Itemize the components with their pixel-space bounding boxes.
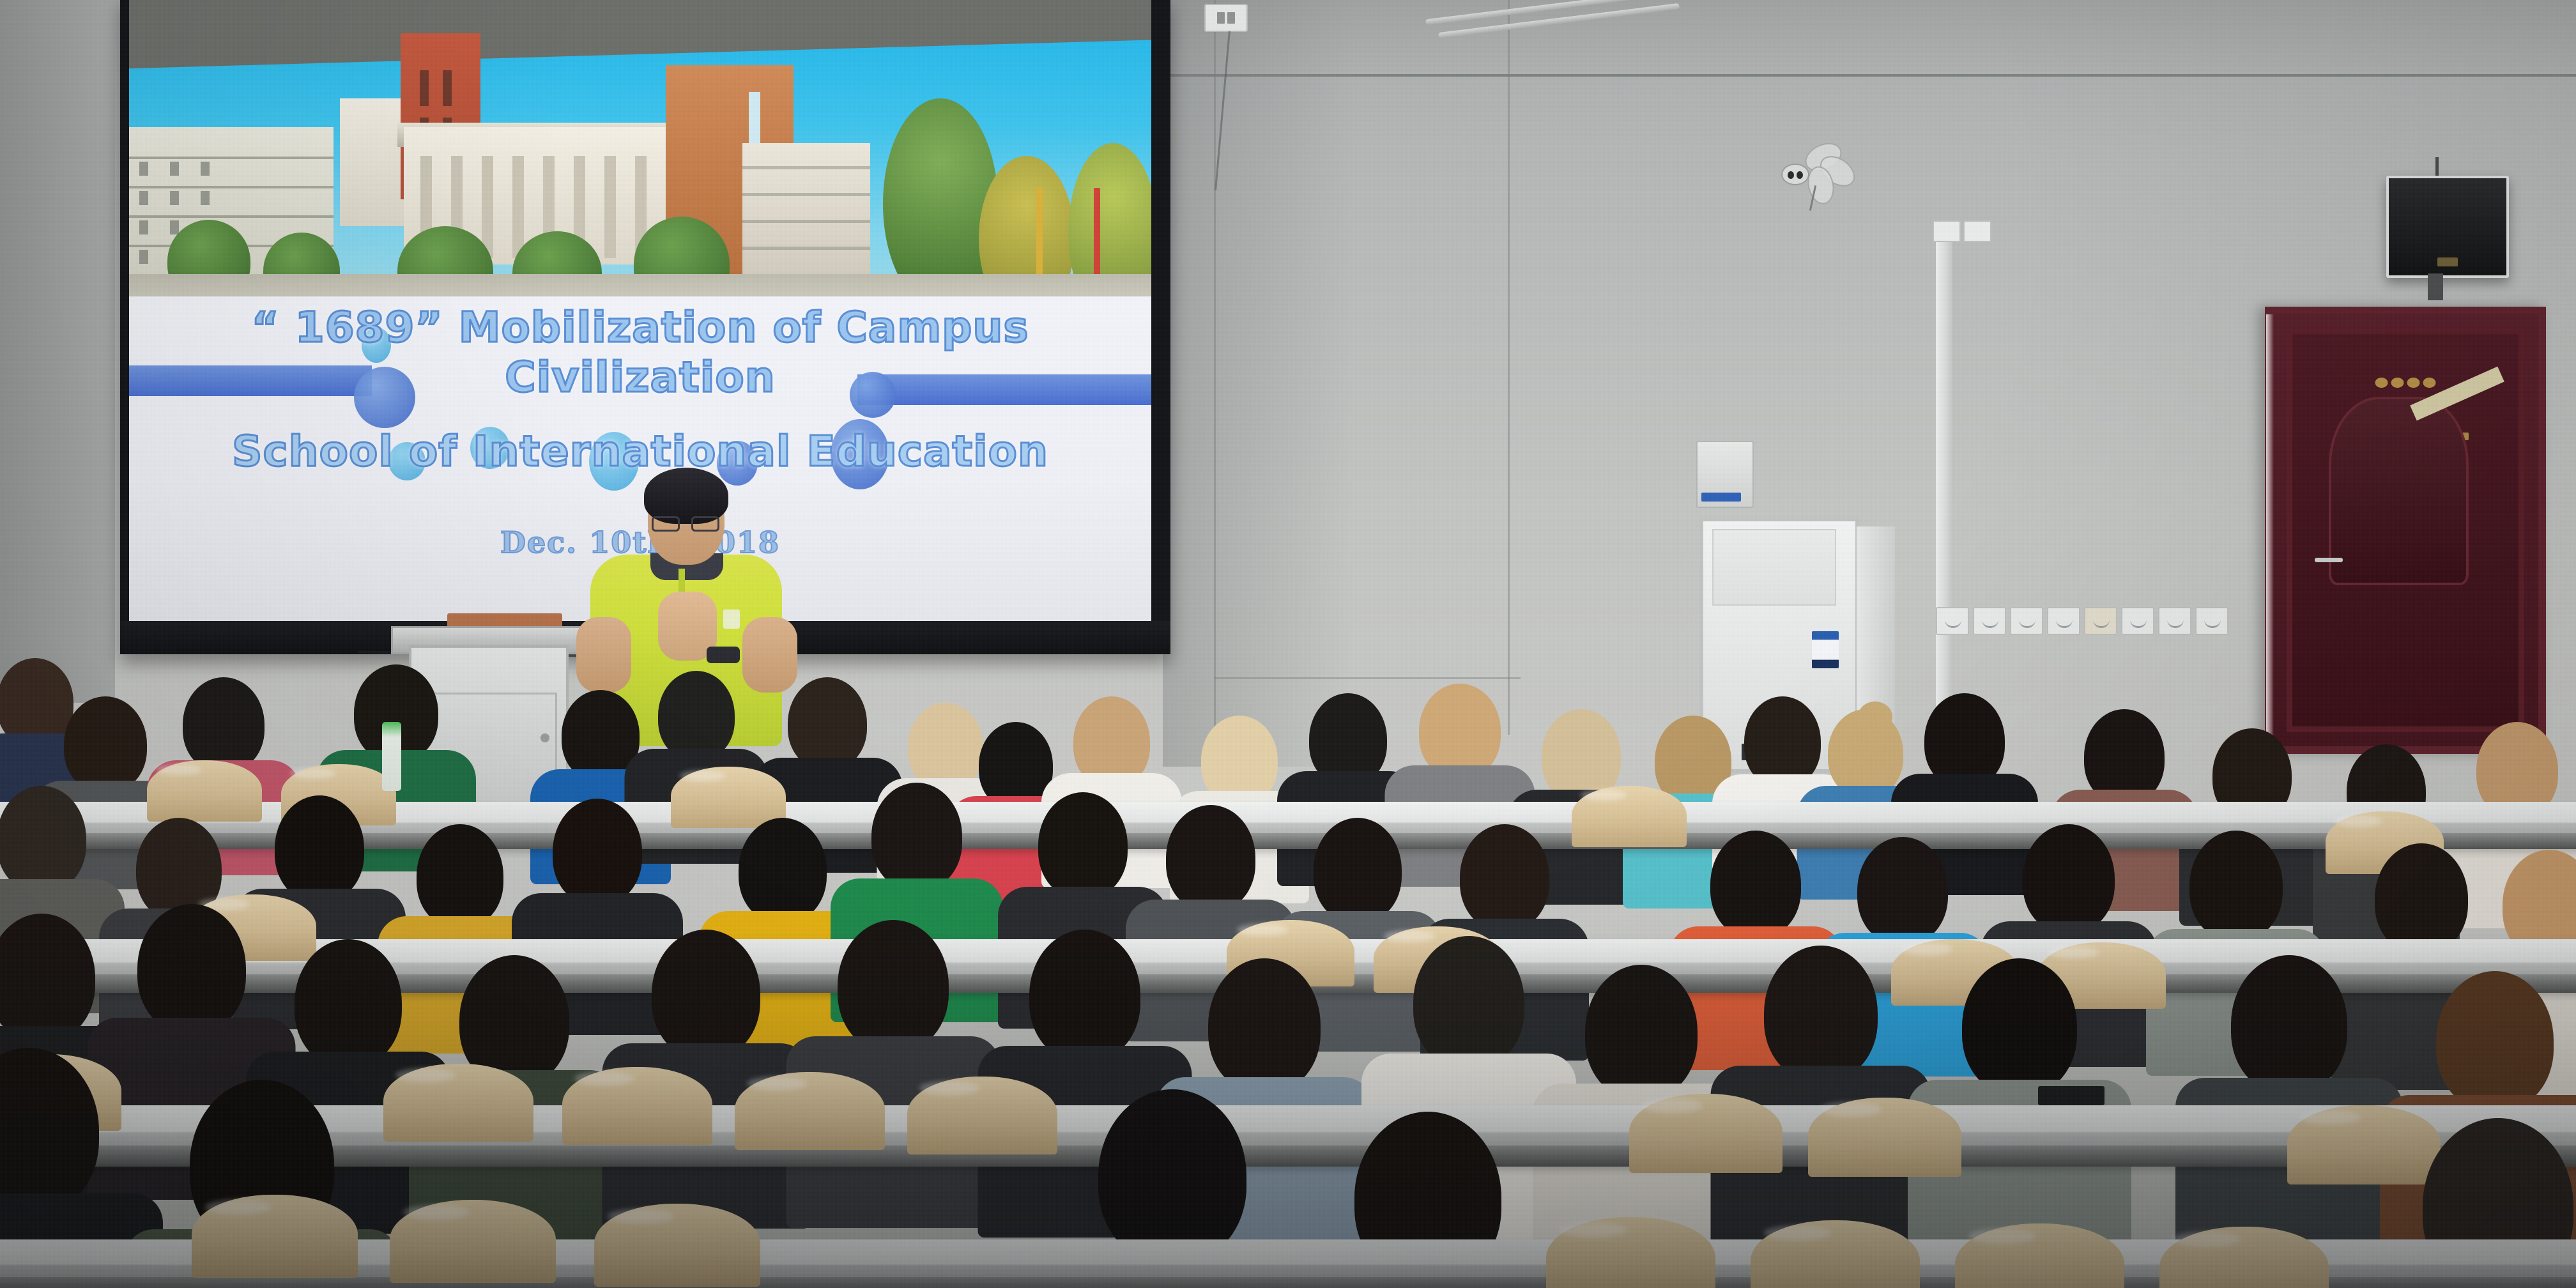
door-edge-highlight <box>2266 314 2274 762</box>
slide-title-line1: “ 1689” Mobilization of Campus <box>251 303 1029 353</box>
lecture-chair[interactable] <box>383 1064 533 1142</box>
lecture-chair[interactable] <box>562 1067 712 1145</box>
slide-subtitle: School of International Education <box>232 424 1048 479</box>
ac-grille <box>1712 529 1836 606</box>
power-socket[interactable] <box>1936 607 1969 635</box>
lecture-chair[interactable] <box>147 760 262 822</box>
presenter-arm-left <box>576 617 631 693</box>
power-socket[interactable] <box>2010 607 2043 635</box>
wall-control-panel[interactable] <box>1696 441 1754 508</box>
ceiling-edge-line <box>1169 74 2576 77</box>
light-switch[interactable] <box>1933 220 1961 242</box>
cable-conduit <box>1936 220 1952 744</box>
presenter-hair <box>644 468 728 524</box>
lecture-chair[interactable] <box>907 1077 1057 1154</box>
door-paper-notice <box>2410 366 2504 420</box>
lecture-chair[interactable] <box>594 1204 760 1287</box>
slide-campus-photo <box>129 0 1151 319</box>
power-socket[interactable] <box>1973 607 2006 635</box>
lecture-chair[interactable] <box>1546 1217 1715 1288</box>
door-ornament-icon <box>2375 378 2436 388</box>
lecture-chair[interactable] <box>390 1200 556 1283</box>
entrance-door[interactable] <box>2265 307 2546 754</box>
lecture-chair[interactable] <box>1629 1094 1782 1173</box>
wall-left-panel <box>0 0 115 703</box>
water-bottle <box>382 722 401 791</box>
wall-fan-icon <box>1776 147 1866 202</box>
power-socket-strip[interactable] <box>1936 607 2228 635</box>
door-inner-frame <box>2287 328 2524 732</box>
power-socket[interactable] <box>2158 607 2191 635</box>
presenter-wristwatch <box>707 647 740 663</box>
eyeglasses-icon <box>652 516 721 533</box>
wall-corner-shadow <box>1163 0 1354 767</box>
photo-top-edge <box>129 0 1151 69</box>
jacket-brand-patch <box>2038 1086 2104 1105</box>
power-socket[interactable] <box>2047 607 2080 635</box>
power-socket[interactable] <box>2084 607 2117 635</box>
slide-title-line2: Civilization <box>505 353 775 402</box>
door-handle-icon[interactable] <box>2315 558 2343 562</box>
presenter-shirt-logo <box>723 609 740 629</box>
ceiling-band <box>1169 0 2576 75</box>
photo-building-white <box>340 98 404 226</box>
lecture-chair[interactable] <box>192 1195 358 1278</box>
speaker-bracket <box>2428 273 2443 300</box>
loudspeaker <box>2386 176 2509 278</box>
photo-building-right <box>742 143 870 290</box>
wall-seam <box>1508 0 1510 735</box>
wall-seam <box>1214 677 1521 679</box>
power-socket[interactable] <box>2195 607 2228 635</box>
light-switch-bank[interactable] <box>1933 220 1991 242</box>
lecture-chair[interactable] <box>735 1072 885 1150</box>
ac-label-sticker <box>1812 631 1839 668</box>
lecture-chair[interactable] <box>1572 786 1687 847</box>
outlet-box[interactable] <box>1204 4 1248 32</box>
lecture-chair[interactable] <box>1808 1098 1961 1177</box>
power-socket[interactable] <box>2121 607 2154 635</box>
speaker-badge <box>2437 257 2458 266</box>
door-raised-panel <box>2329 397 2469 585</box>
light-switch[interactable] <box>1963 220 1991 242</box>
lecture-hall-photo: “ 1689” Mobilization of Campus Civilizat… <box>0 0 2576 1288</box>
